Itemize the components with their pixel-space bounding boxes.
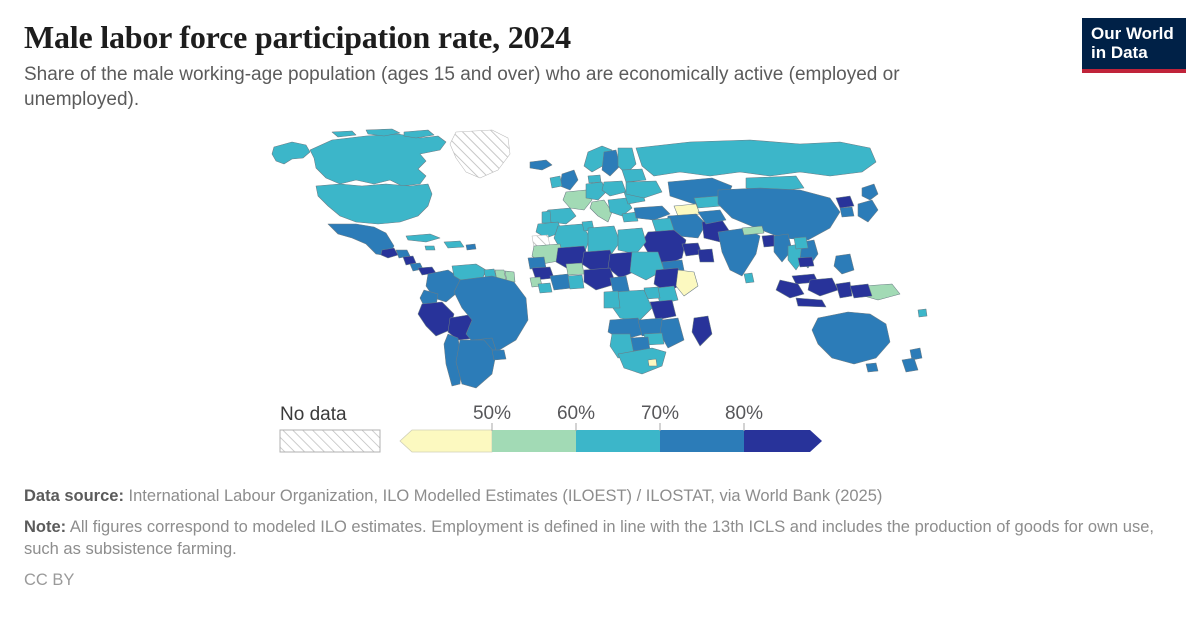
- country-fiji[interactable]: [918, 309, 927, 317]
- country-japan[interactable]: [862, 184, 878, 200]
- legend-tick-label-50: 50%: [473, 403, 511, 424]
- country-laos[interactable]: [794, 237, 808, 249]
- world-map[interactable]: [270, 128, 930, 396]
- country-united-states[interactable]: [316, 184, 432, 224]
- country-tanzania[interactable]: [650, 300, 676, 320]
- country-somalia[interactable]: [676, 270, 698, 296]
- country-south-korea[interactable]: [840, 207, 854, 217]
- country-argentina[interactable]: [456, 340, 496, 388]
- country-cuba[interactable]: [406, 234, 440, 242]
- country-indonesia-papua[interactable]: [850, 284, 872, 298]
- country-egypt[interactable]: [618, 228, 646, 254]
- page-title: Male labor force participation rate, 202…: [24, 18, 1024, 56]
- note-row: Note: All figures correspond to modeled …: [24, 516, 1174, 560]
- country-gabon-congo[interactable]: [604, 291, 620, 308]
- choropleth-map-container[interactable]: [0, 128, 1200, 400]
- data-source-text: International Labour Organization, ILO M…: [129, 487, 883, 505]
- country-hispaniola[interactable]: [444, 241, 464, 248]
- country-iraq[interactable]: [652, 218, 674, 232]
- logo-red-rule: [1082, 69, 1186, 73]
- chart-footer: Data source: International Labour Organi…: [24, 485, 1174, 591]
- data-source-row: Data source: International Labour Organi…: [24, 485, 1174, 507]
- country-puerto-rico[interactable]: [466, 244, 476, 250]
- our-world-in-data-logo[interactable]: Our World in Data: [1082, 18, 1186, 73]
- license-text: CC BY: [24, 569, 1174, 591]
- country-liberia[interactable]: [538, 283, 552, 293]
- legend-bin-1[interactable]: [492, 430, 576, 452]
- country-portugal[interactable]: [542, 211, 551, 223]
- country-cambodia[interactable]: [798, 257, 814, 267]
- logo-line-1: Our World: [1091, 24, 1177, 43]
- country-guatemala[interactable]: [381, 248, 398, 258]
- country-united-kingdom[interactable]: [560, 170, 578, 190]
- country-tasmania[interactable]: [866, 363, 878, 372]
- country-canada[interactable]: [310, 134, 446, 186]
- note-label: Note:: [24, 518, 66, 536]
- legend-no-data-label: No data: [280, 404, 347, 425]
- legend-tick-label-80: 80%: [725, 403, 763, 424]
- map-legend[interactable]: No data 50% 60% 70% 80%: [0, 398, 1200, 468]
- country-ireland[interactable]: [550, 176, 562, 188]
- country-jamaica[interactable]: [425, 246, 435, 250]
- legend-color-bar[interactable]: [400, 430, 822, 452]
- logo-line-2: in Data: [1091, 43, 1177, 62]
- country-sri-lanka[interactable]: [744, 273, 754, 283]
- country-philippines[interactable]: [834, 254, 854, 274]
- country-australia[interactable]: [812, 312, 890, 364]
- legend-ticks: [492, 423, 744, 431]
- country-indonesia-sulawesi[interactable]: [836, 282, 852, 298]
- country-oman[interactable]: [698, 249, 714, 262]
- data-source-label: Data source:: [24, 487, 124, 505]
- country-nepal[interactable]: [742, 226, 764, 235]
- chart-header: Male labor force participation rate, 202…: [24, 18, 1024, 112]
- legend-tick-label-60: 60%: [557, 403, 595, 424]
- country-canada-arctic-3[interactable]: [332, 131, 356, 137]
- legend-bin-0[interactable]: [400, 430, 492, 452]
- country-iceland[interactable]: [530, 160, 552, 170]
- legend-svg[interactable]: No data 50% 60% 70% 80%: [270, 398, 930, 468]
- country-new-zealand-south[interactable]: [902, 358, 918, 372]
- country-north-korea[interactable]: [836, 196, 854, 208]
- country-india[interactable]: [718, 228, 760, 276]
- country-ghana[interactable]: [568, 275, 584, 289]
- country-poland[interactable]: [602, 181, 626, 196]
- country-burkina-faso[interactable]: [566, 263, 584, 275]
- legend-no-data-swatch[interactable]: [280, 430, 380, 452]
- legend-tick-label-70: 70%: [641, 403, 679, 424]
- chart-subtitle: Share of the male working-age population…: [24, 62, 974, 112]
- legend-bin-4[interactable]: [744, 430, 822, 452]
- country-denmark[interactable]: [588, 175, 601, 183]
- country-turkey[interactable]: [634, 206, 670, 220]
- legend-bin-3[interactable]: [660, 430, 744, 452]
- country-greenland-no-data[interactable]: [450, 130, 510, 178]
- note-text: All figures correspond to modeled ILO es…: [24, 518, 1154, 558]
- logo-box: Our World in Data: [1082, 18, 1186, 69]
- country-indonesia-java[interactable]: [796, 298, 826, 307]
- country-sweden[interactable]: [602, 150, 620, 176]
- country-japan-main[interactable]: [858, 200, 878, 222]
- legend-bin-2[interactable]: [576, 430, 660, 452]
- country-indonesia-borneo[interactable]: [808, 278, 838, 296]
- country-ukraine[interactable]: [626, 181, 662, 198]
- country-belarus-baltics[interactable]: [622, 169, 646, 182]
- country-alaska[interactable]: [272, 142, 310, 164]
- country-uruguay[interactable]: [492, 350, 506, 360]
- country-russia[interactable]: [636, 140, 876, 176]
- country-madagascar[interactable]: [692, 316, 712, 346]
- country-lesotho[interactable]: [648, 359, 657, 366]
